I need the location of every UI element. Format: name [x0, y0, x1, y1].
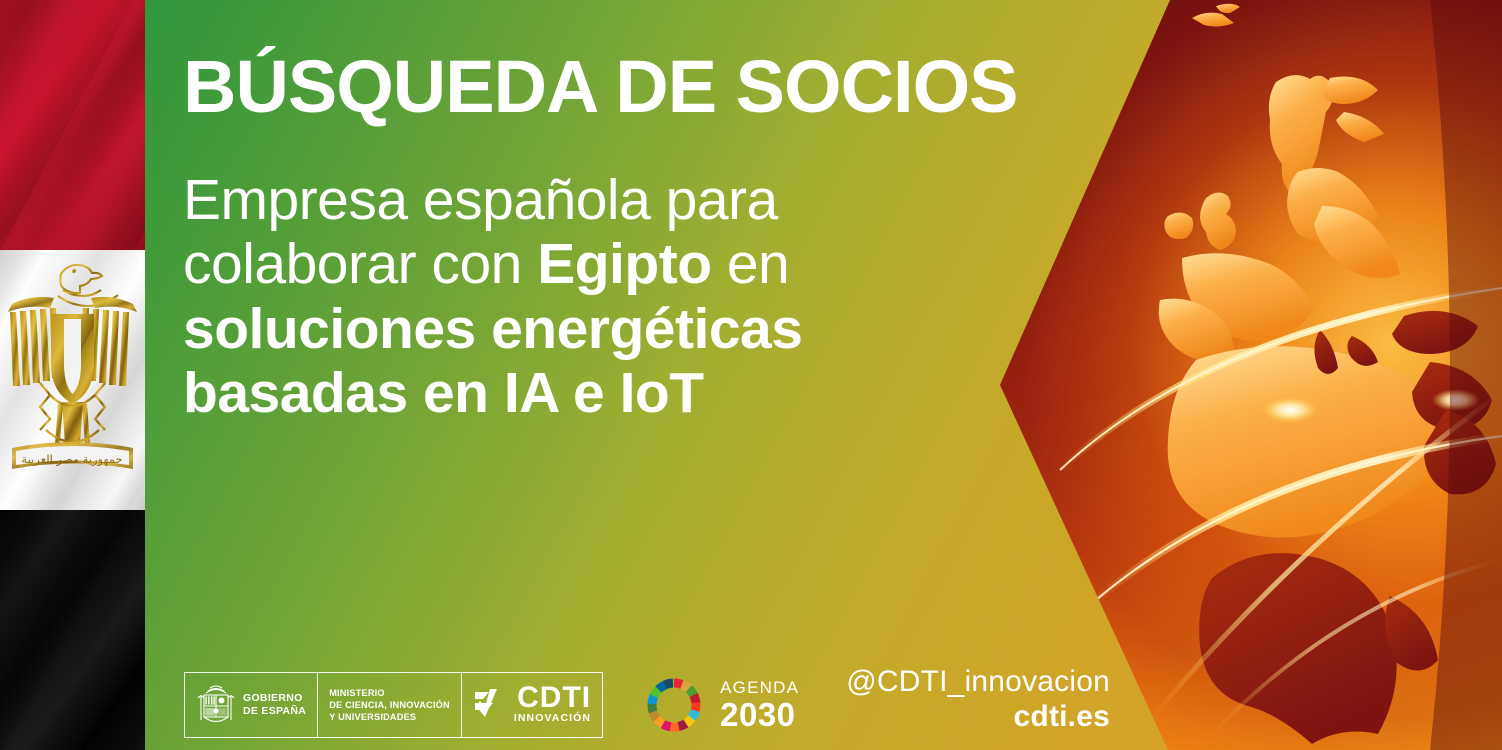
ministerio-line-3: Y UNIVERSIDADES — [329, 711, 450, 723]
agenda-text: AGENDA 2030 — [720, 679, 799, 731]
ministerio-line-1: MINISTERIO — [329, 687, 450, 699]
sdg-wheel-icon — [641, 672, 707, 738]
agenda-2030-logo: AGENDA 2030 — [641, 672, 799, 738]
ministerio-text: MINISTERIO DE CIENCIA, INNOVACIÓN Y UNIV… — [329, 687, 450, 724]
spain-coat-of-arms-icon — [196, 682, 236, 728]
cdti-logo: CDTI INNOVACIÓN — [461, 673, 602, 737]
eagle-of-saladin-icon: جمهورية مصر العربية — [6, 252, 139, 502]
gobierno-text: GOBIERNO DE ESPAÑA — [243, 692, 306, 718]
gobierno-line-2: DE ESPAÑA — [243, 705, 306, 718]
flag-band-black — [0, 510, 145, 750]
logo-row: GOBIERNO DE ESPAÑA MINISTERIO DE CIENCIA… — [184, 672, 799, 738]
banner-subtitle: Empresa española para colaborar con Egip… — [183, 168, 943, 426]
gob-shield-cell: GOBIERNO DE ESPAÑA — [185, 673, 317, 737]
subtitle-highlight-topic: soluciones energéticas basadas en IA e I… — [183, 297, 802, 425]
agenda-line-1: AGENDA — [720, 679, 799, 696]
globe-continents-icon — [1000, 0, 1502, 750]
flag-scroll-text: جمهورية مصر العربية — [21, 452, 122, 467]
cdti-wordmark: CDTI INNOVACIÓN — [514, 684, 591, 726]
globe-graphic — [1000, 0, 1502, 750]
egypt-flag: جمهورية مصر العربية — [0, 0, 145, 750]
ministerio-line-2: DE CIENCIA, INNOVACIÓN — [329, 699, 450, 711]
social-block: @CDTI_innovacion cdti.es — [846, 665, 1110, 734]
ministerio-cell: MINISTERIO DE CIENCIA, INNOVACIÓN Y UNIV… — [317, 673, 461, 737]
flag-band-red — [0, 0, 145, 250]
subtitle-highlight-country: Egipto — [537, 232, 711, 296]
cdti-arrow-check-icon — [473, 686, 507, 724]
social-handle: @CDTI_innovacion — [846, 665, 1110, 700]
cdti-word: CDTI — [517, 684, 591, 713]
subtitle-part-2: en — [727, 232, 789, 296]
agenda-line-2: 2030 — [720, 698, 799, 731]
website-url: cdti.es — [846, 700, 1110, 735]
gobierno-de-espana-logo: GOBIERNO DE ESPAÑA MINISTERIO DE CIENCIA… — [184, 672, 603, 738]
cdti-sub: INNOVACIÓN — [514, 712, 591, 726]
gobierno-line-1: GOBIERNO — [243, 692, 306, 705]
promotional-banner: جمهورية مصر العربية — [0, 0, 1502, 750]
page-title: BÚSQUEDA DE SOCIOS — [183, 50, 1017, 124]
